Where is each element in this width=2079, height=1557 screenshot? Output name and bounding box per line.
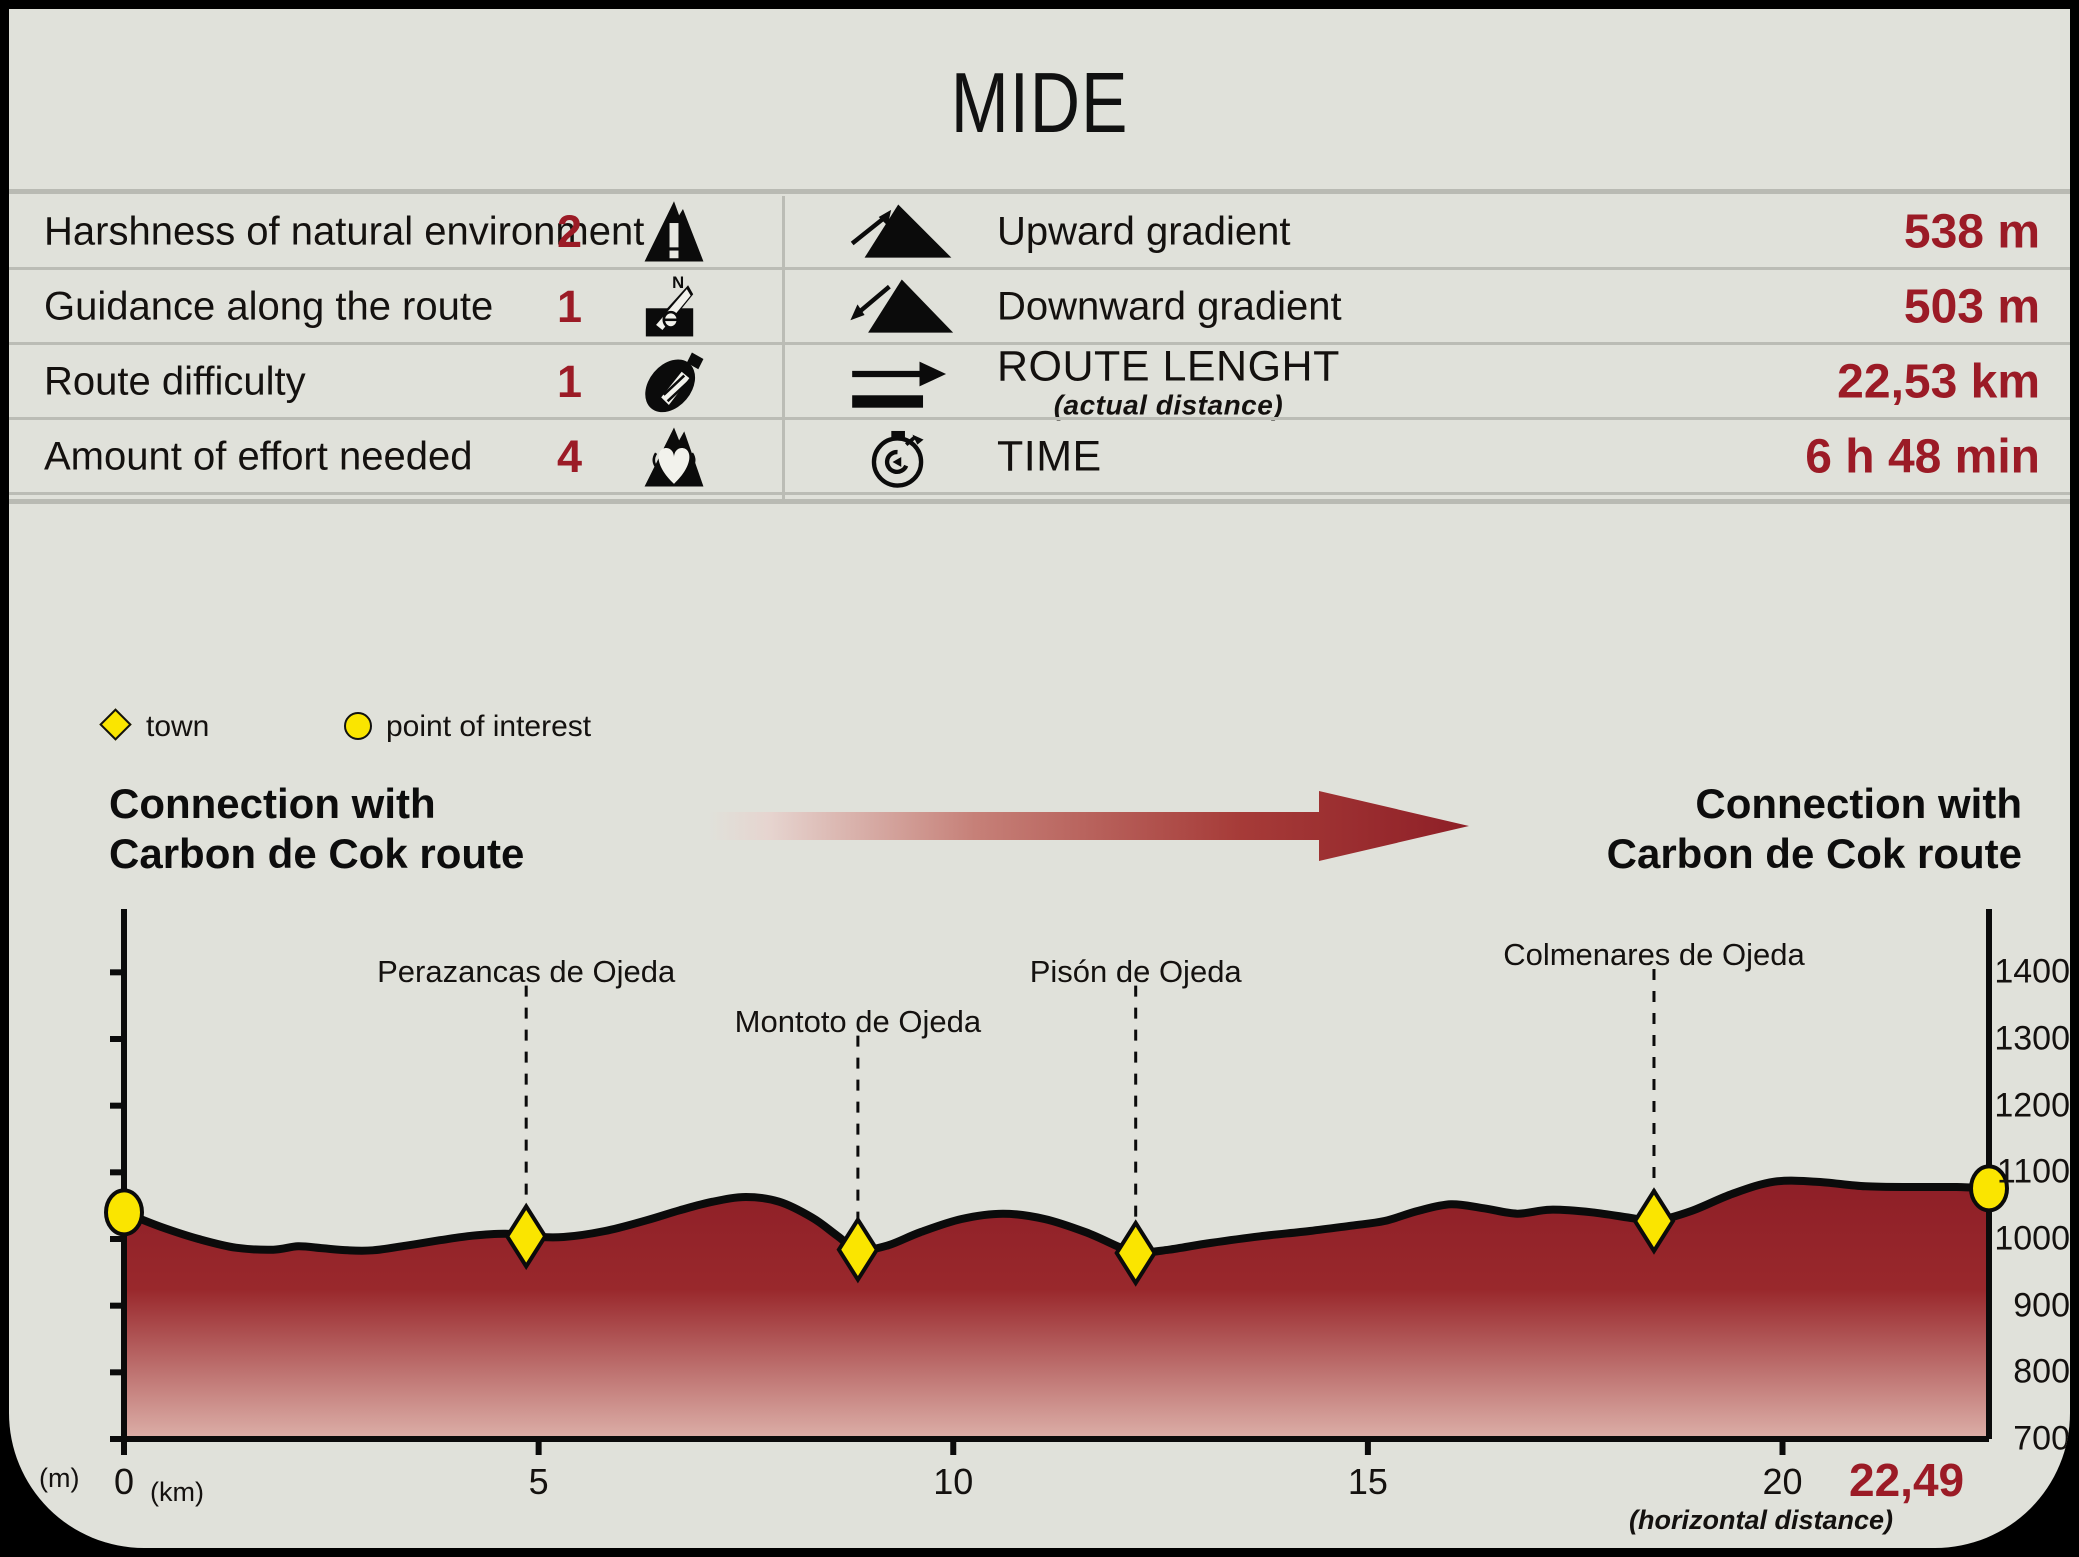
stat-value: 6 h 48 min	[1805, 430, 2040, 485]
stopwatch-icon	[845, 426, 955, 488]
x-axis-label: (horizontal distance)	[1629, 1505, 1893, 1536]
route-end-distance: 22,49	[1849, 1453, 1964, 1507]
legend-circle-marker-icon	[344, 712, 372, 740]
y-axis-tick-label: 900	[1979, 1286, 2070, 1325]
criterion-cell: Amount of effort needed4	[9, 421, 782, 493]
stat-value: 538 m	[1904, 205, 2040, 260]
stat-label: TIME	[997, 433, 1102, 482]
criterion-label: Route difficulty	[44, 360, 306, 405]
criterion-cell: Route difficulty1	[9, 346, 782, 418]
criterion-score: 4	[557, 431, 582, 483]
town-label: Pisón de Ojeda	[1030, 954, 1242, 990]
connection-label-left: Connection withCarbon de Cok route	[109, 779, 524, 879]
poi-circle-marker-icon[interactable]	[106, 1190, 142, 1234]
stat-label: ROUTE LENGHT(actual distance)	[997, 343, 1340, 422]
legend-label: point of interest	[386, 710, 591, 744]
y-axis-tick-label: 1300	[1979, 1020, 2070, 1059]
criterion-score: 1	[557, 281, 582, 333]
stat-label-text: TIME	[997, 433, 1102, 481]
svg-text:N: N	[672, 275, 684, 292]
mide-row: Harshness of natural environment2Upward …	[9, 196, 2070, 268]
y-axis-tick-label: 700	[1979, 1420, 2070, 1459]
x-axis-tick-label: 5	[529, 1461, 549, 1503]
row-divider	[9, 492, 2070, 495]
boot-icon	[628, 350, 720, 414]
stat-label: Downward gradient	[997, 285, 1342, 330]
stat-cell: ROUTE LENGHT(actual distance)22,53 km	[785, 346, 2070, 418]
compass-icon: N	[628, 275, 720, 339]
stat-cell: TIME6 h 48 min	[785, 421, 2070, 493]
stat-label-text: Upward gradient	[997, 210, 1291, 254]
y-axis-tick-label: 1400	[1979, 953, 2070, 992]
y-axis-tick-label: 1000	[1979, 1220, 2070, 1259]
connection-label-right: Connection withCarbon de Cok route	[1607, 779, 2022, 879]
y-axis-unit: (m)	[39, 1463, 79, 1494]
criterion-label: Harshness of natural environment	[44, 210, 644, 255]
y-axis-tick-label: 800	[1979, 1353, 2070, 1392]
connection-line: Carbon de Cok route	[109, 829, 524, 879]
town-label: Colmenares de Ojeda	[1503, 937, 1805, 973]
mountain-down-icon	[845, 276, 955, 338]
page-title: MIDE	[194, 61, 1884, 146]
legend-diamond-marker-icon	[99, 708, 132, 741]
row-divider	[9, 417, 2070, 420]
connection-line: Connection with	[109, 779, 524, 829]
y-axis-tick-label: 1100	[1979, 1153, 2070, 1192]
stat-cell: Upward gradient538 m	[785, 196, 2070, 268]
arrow-right-icon	[845, 351, 955, 413]
stat-label-text: Downward gradient	[997, 285, 1342, 329]
header-divider	[9, 189, 2070, 194]
heart-icon	[628, 425, 720, 489]
x-axis-tick-label: 15	[1348, 1461, 1388, 1503]
town-label: Montoto de Ojeda	[735, 1004, 981, 1040]
town-label: Perazancas de Ojeda	[377, 954, 675, 990]
x-axis-tick-label: 0	[114, 1461, 134, 1503]
x-axis-unit: (km)	[150, 1477, 204, 1508]
legend-label: town	[146, 710, 209, 744]
row-divider	[9, 267, 2070, 270]
mide-row: Guidance along the route1NDownward gradi…	[9, 271, 2070, 343]
header: MIDE	[9, 9, 2070, 191]
stat-value: 503 m	[1904, 280, 2040, 335]
criterion-cell: Guidance along the route1N	[9, 271, 782, 343]
criterion-label: Guidance along the route	[44, 285, 493, 330]
elevation-profile-chart: 70080090010001100120013001400 05101520 P…	[9, 889, 2070, 1548]
mide-table: Harshness of natural environment2Upward …	[9, 196, 2070, 502]
table-bottom-divider	[9, 499, 2070, 504]
connection-line: Carbon de Cok route	[1607, 829, 2022, 879]
direction-arrow-icon	[709, 791, 1469, 861]
stat-cell: Downward gradient503 m	[785, 271, 2070, 343]
stat-value: 22,53 km	[1837, 355, 2040, 410]
x-axis-tick-label: 10	[933, 1461, 973, 1503]
criterion-cell: Harshness of natural environment2	[9, 196, 782, 268]
mountain-up-icon	[845, 201, 955, 263]
connection-line: Connection with	[1607, 779, 2022, 829]
x-axis-tick-label: 20	[1762, 1461, 1802, 1503]
stat-label-text: ROUTE LENGHT	[997, 343, 1340, 391]
mide-row: Route difficulty1ROUTE LENGHT(actual dis…	[9, 346, 2070, 418]
criterion-score: 2	[557, 206, 582, 258]
mide-card: MIDE Harshness of natural environment2Up…	[9, 9, 2070, 1548]
warning-triangle-icon	[628, 200, 720, 264]
criterion-score: 1	[557, 356, 582, 408]
stat-label: Upward gradient	[997, 210, 1291, 255]
mide-row: Amount of effort needed4TIME6 h 48 min	[9, 421, 2070, 493]
criterion-label: Amount of effort needed	[44, 435, 472, 480]
y-axis-tick-label: 1200	[1979, 1086, 2070, 1125]
